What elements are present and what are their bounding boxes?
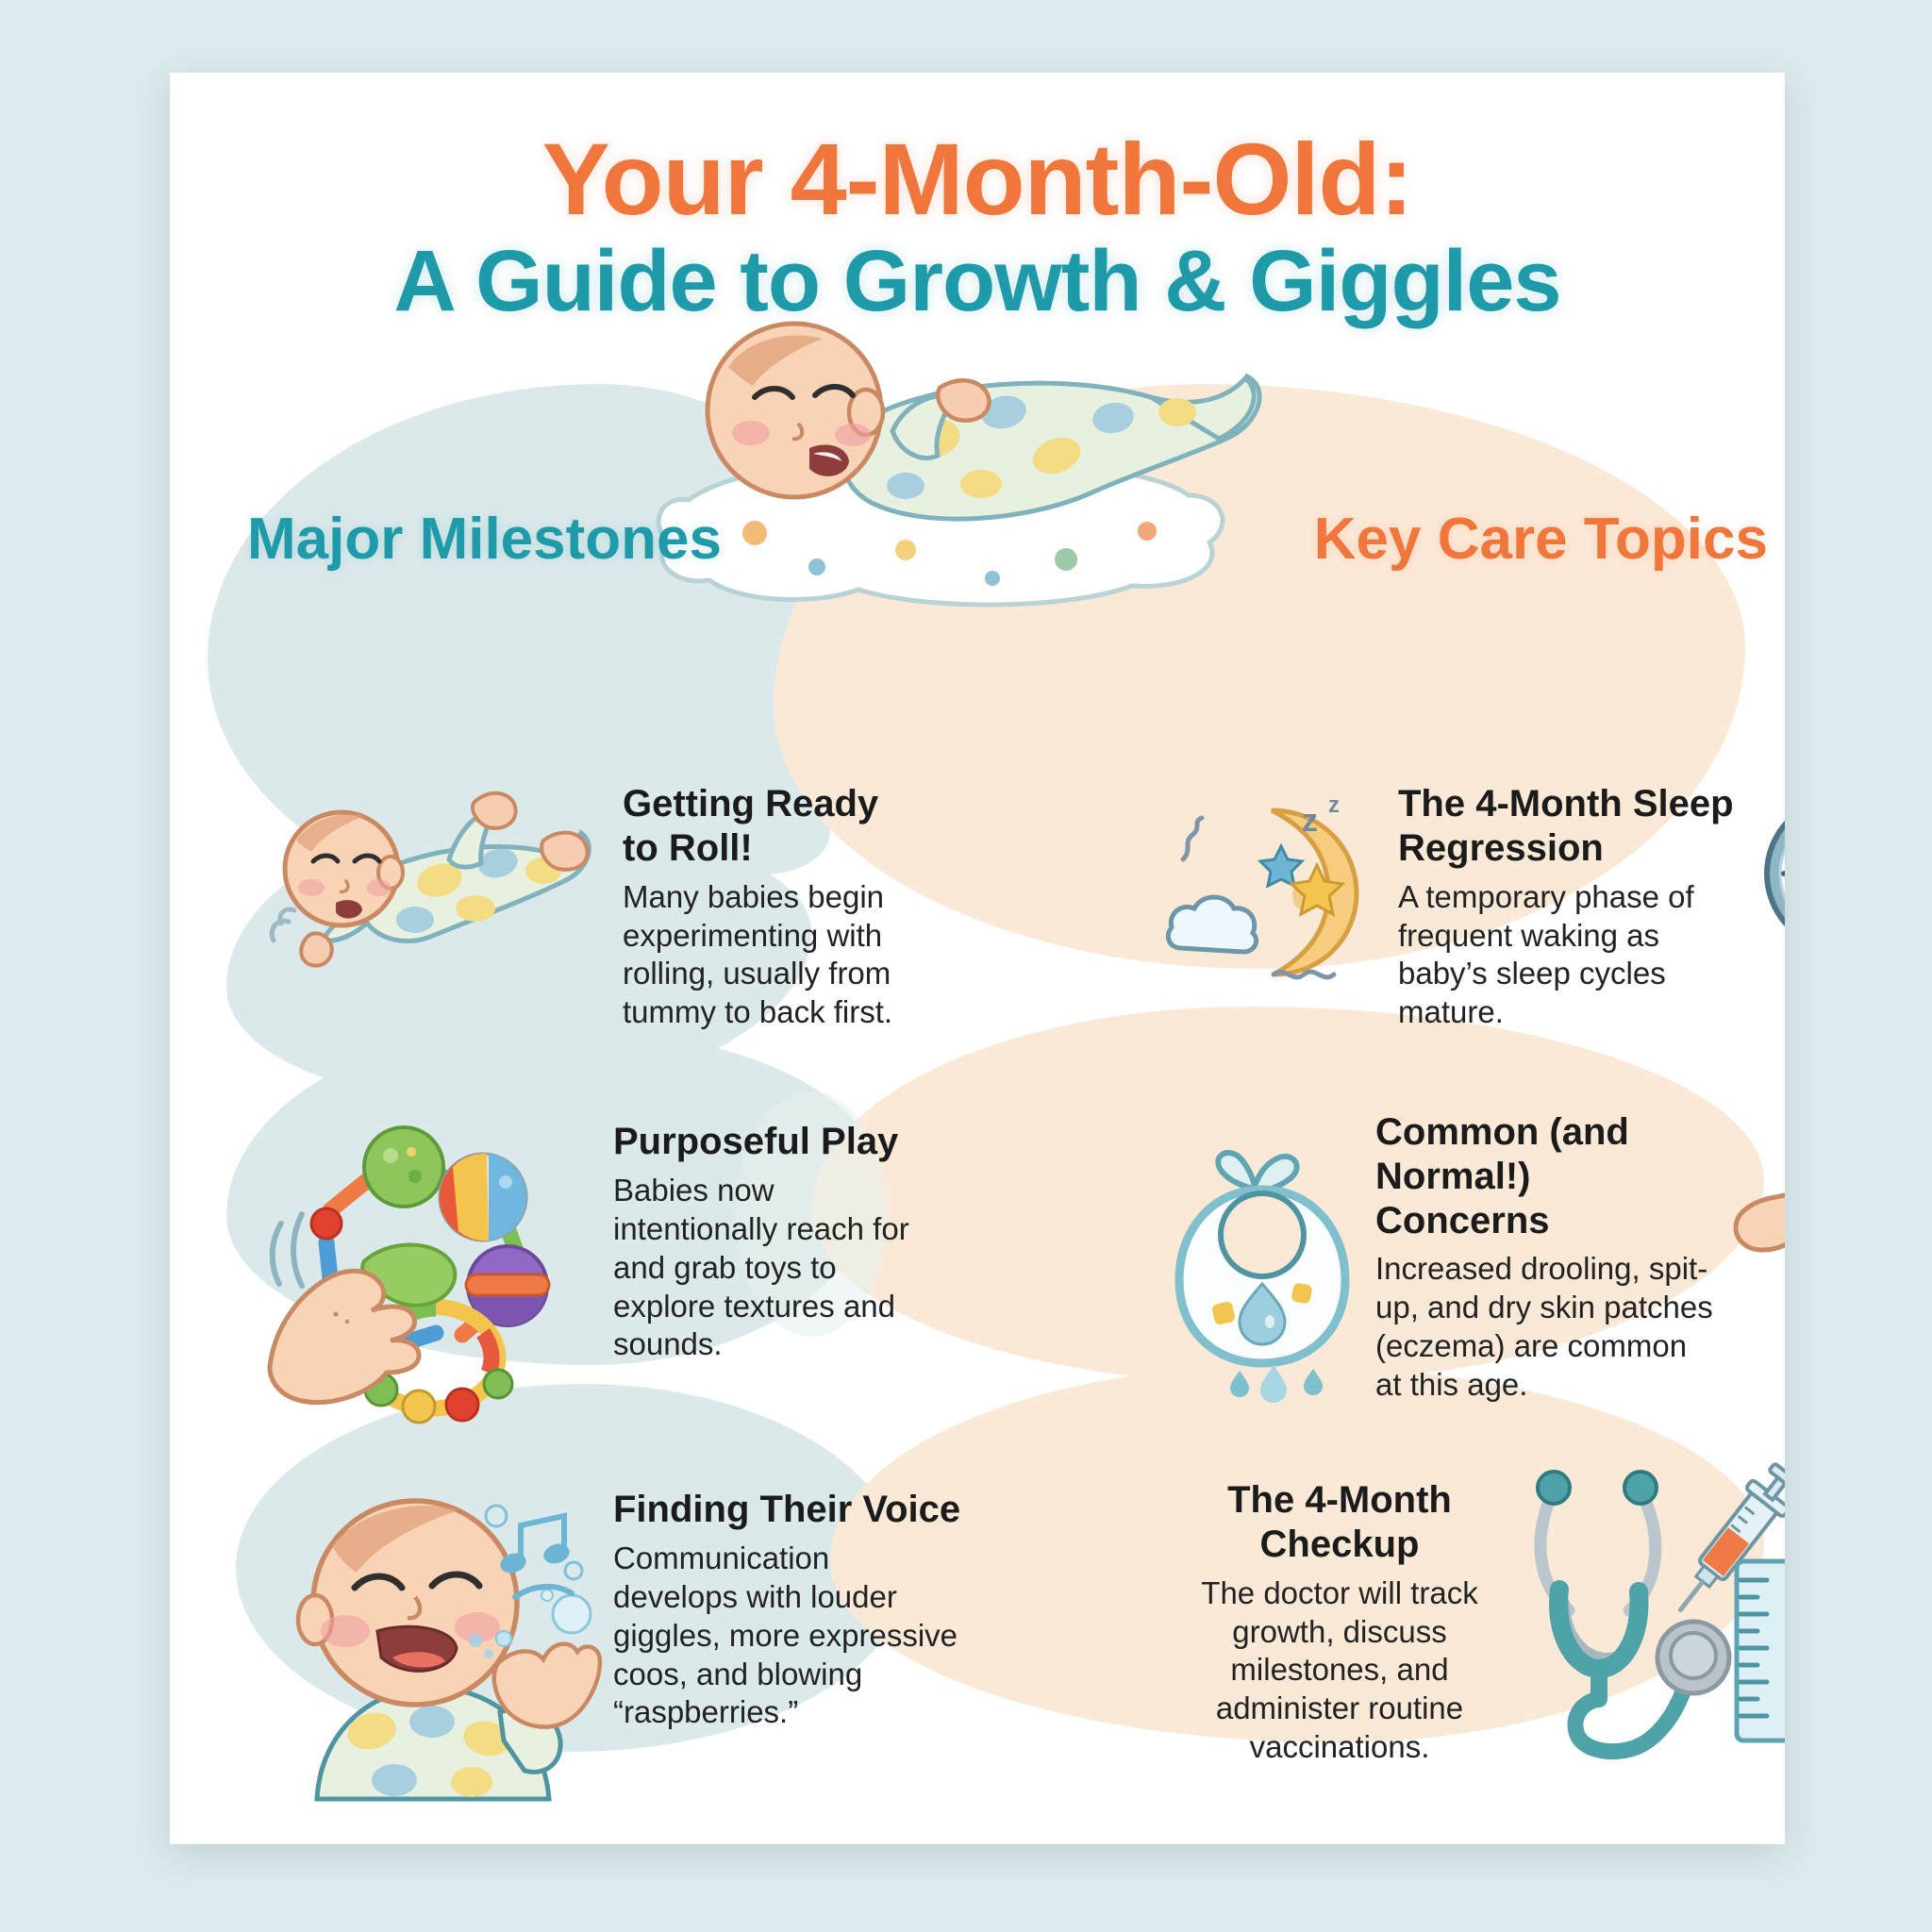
care-card-checkup-body: The doctor will track growth, discuss mi…	[1165, 1574, 1514, 1768]
milestone-card-play-text: Purposeful Play Babies now intentionally…	[613, 1120, 934, 1364]
milestone-card-play-title: Purposeful Play	[613, 1120, 934, 1164]
giggling-baby-icon	[274, 1488, 604, 1799]
poster-header: Your 4-Month-Old: A Guide to Growth & Gi…	[170, 73, 1785, 329]
svg-text:z: z	[1302, 803, 1318, 839]
stethoscope-syringe-ruler-icon	[1531, 1469, 1785, 1771]
svg-text:z: z	[1328, 792, 1340, 818]
bib-with-droplets-icon	[1170, 1148, 1358, 1403]
care-card-sleep-regression[interactable]: z z The 4-Month Sleep Regression A tempo…	[1160, 782, 1785, 1032]
section-heading-care-topics-text: Key Care Topics	[1314, 507, 1768, 572]
section-heading-milestones: Major Milestones	[247, 507, 722, 572]
care-card-common-concerns-title: Common (and Normal!) Concerns	[1375, 1110, 1715, 1242]
milestone-card-voice-title: Finding Their Voice	[613, 1488, 962, 1532]
poster-card: Your 4-Month-Old: A Guide to Growth & Gi…	[170, 73, 1785, 1844]
page-title: Your 4-Month-Old:	[170, 127, 1785, 231]
clock-icon	[1760, 791, 1785, 957]
section-heading-care-topics: Key Care Topics	[1314, 507, 1768, 572]
care-card-sleep-regression-body: A temporary phase of frequent waking as …	[1398, 878, 1747, 1033]
hero-baby-on-pillow-icon	[623, 307, 1302, 618]
care-card-common-concerns-body: Increased drooling, spit-up, and dry ski…	[1375, 1250, 1715, 1405]
care-card-common-concerns-text: Common (and Normal!) Concerns Increased …	[1375, 1110, 1715, 1405]
baby-rolling-icon	[264, 782, 604, 1018]
milestone-card-rolling-body: Many babies begin experimenting with rol…	[623, 878, 915, 1033]
milestone-card-play[interactable]: Purposeful Play Babies now intentionally…	[264, 1120, 981, 1431]
milestone-card-rolling-title: Getting Ready to Roll!	[623, 782, 915, 871]
milestone-card-voice[interactable]: Finding Their Voice Communication develo…	[274, 1488, 991, 1799]
care-card-sleep-regression-text: The 4-Month Sleep Regression A temporary…	[1398, 782, 1747, 1032]
milestone-card-rolling[interactable]: Getting Ready to Roll! Many babies begin…	[264, 782, 962, 1032]
hand-with-rattle-toy-icon	[264, 1120, 604, 1431]
care-card-common-concerns[interactable]: Common (and Normal!) Concerns Increased …	[1170, 1110, 1785, 1405]
milestone-card-voice-text: Finding Their Voice Communication develo…	[613, 1488, 962, 1732]
arm-eczema-lotion-icon	[1721, 1101, 1785, 1374]
moon-cloud-stars-icon: z z	[1160, 782, 1377, 999]
care-card-sleep-regression-title: The 4-Month Sleep Regression	[1398, 782, 1747, 871]
care-card-checkup[interactable]: The 4-Month Checkup The doctor will trac…	[1165, 1478, 1785, 1771]
milestone-card-rolling-text: Getting Ready to Roll! Many babies begin…	[623, 782, 915, 1032]
care-card-checkup-text: The 4-Month Checkup The doctor will trac…	[1165, 1478, 1514, 1767]
section-heading-milestones-text: Major Milestones	[247, 507, 722, 572]
milestone-card-play-body: Babies now intentionally reach for and g…	[613, 1172, 934, 1365]
milestone-card-voice-body: Communication develops with louder giggl…	[613, 1540, 962, 1733]
care-card-checkup-title: The 4-Month Checkup	[1165, 1478, 1514, 1567]
